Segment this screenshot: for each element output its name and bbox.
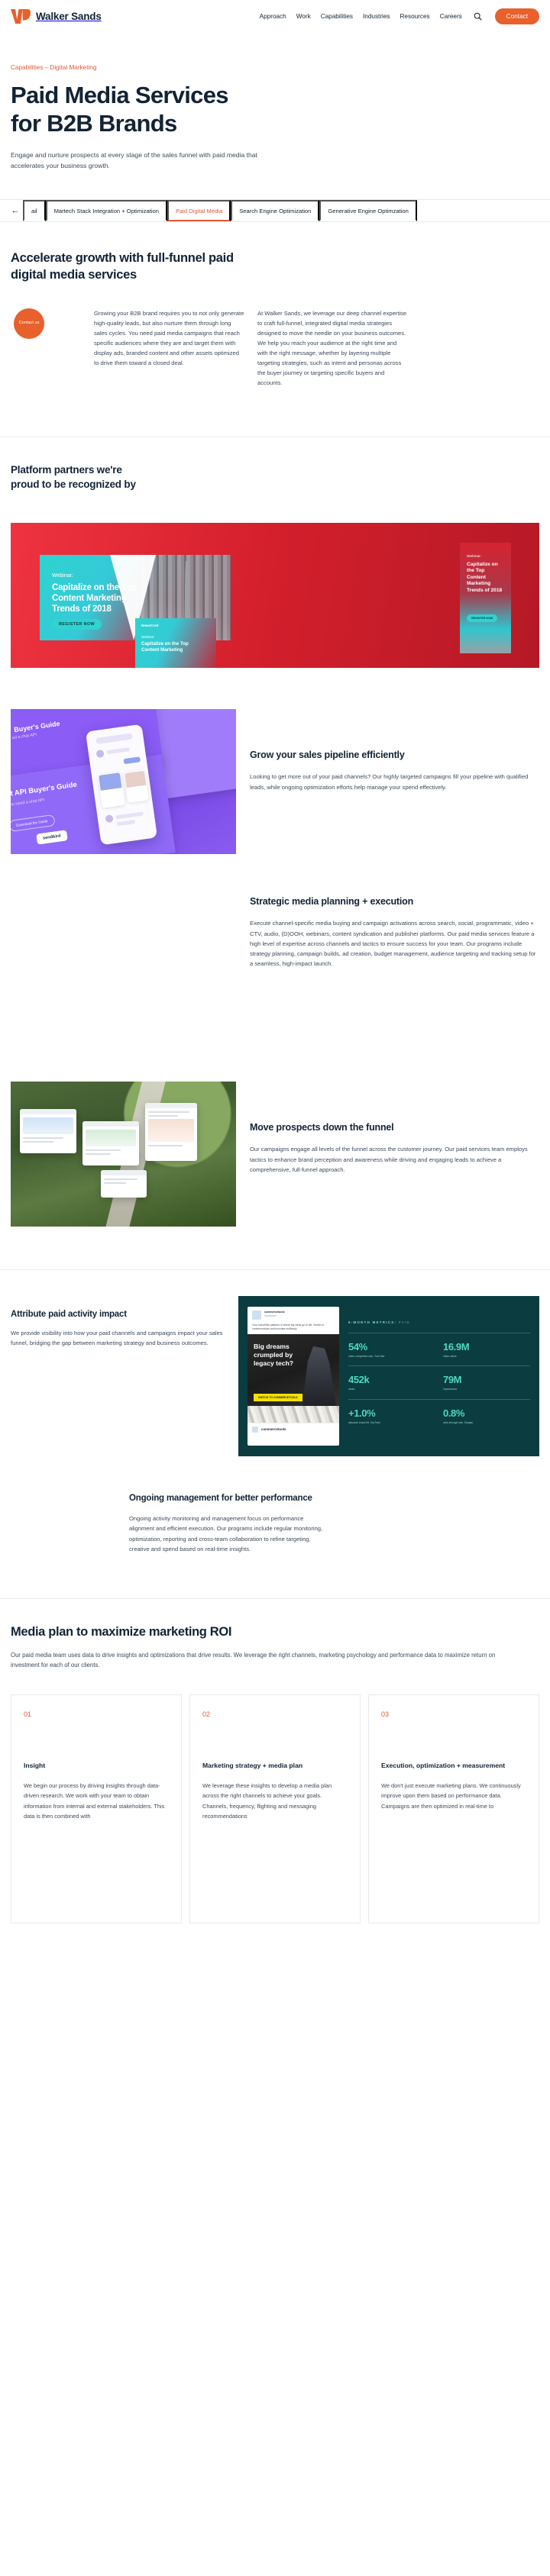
hero-section: Capabilities – Digital Marketing Paid Me… xyxy=(0,32,550,172)
metric-label: clicks xyxy=(348,1388,435,1391)
metric-label: click-through rate, Display xyxy=(443,1421,530,1425)
metric-item: 54% video completion rate, YouTube xyxy=(348,1341,435,1359)
plan-card-number: 03 xyxy=(381,1710,526,1718)
pipeline-body: Looking to get more out of your paid cha… xyxy=(250,772,539,791)
media-plan-cards: 01 Insight We begin our process by drivi… xyxy=(11,1694,539,1923)
main-nav: Approach Work Capabilities Industries Re… xyxy=(260,8,539,24)
funnel-heading: Move prospects down the funnel xyxy=(250,1121,539,1134)
ad-cta-button[interactable]: SWITCH TO COMMERCETOOLS xyxy=(254,1394,302,1401)
strategic-spacer xyxy=(11,895,236,1040)
nav-item-capabilities[interactable]: Capabilities xyxy=(321,13,353,20)
accelerate-columns: Growing your B2B brand requires you to n… xyxy=(94,308,408,388)
nav-item-industries[interactable]: Industries xyxy=(363,13,390,20)
banner-vertical-register-button[interactable]: REGISTER NOW xyxy=(467,614,497,622)
attribute-text: Attribute paid activity impact We provid… xyxy=(11,1296,225,1348)
attribute-body: We provide visibility into how your paid… xyxy=(11,1328,225,1348)
dashboard-tile-1 xyxy=(20,1109,76,1153)
metric-item: 0.8% click-through rate, Display xyxy=(443,1407,530,1425)
ad-sponsored-label: Sponsored xyxy=(264,1314,335,1317)
funnel-body: Our campaigns engage all levels of the f… xyxy=(250,1144,539,1175)
strategic-section: Strategic media planning + execution Exe… xyxy=(0,895,550,1040)
plan-card-title: Insight xyxy=(24,1761,169,1770)
ongoing-management-section: Ongoing management for better performanc… xyxy=(0,1493,550,1554)
plan-card-title: Marketing strategy + media plan xyxy=(202,1761,348,1770)
banner-eyebrow: Webinar: xyxy=(52,573,73,579)
pipeline-heading: Grow your sales pipeline efficiently xyxy=(250,749,539,762)
metric-value: 452k xyxy=(348,1374,435,1385)
metric-row: 452k clicks 79M impressions xyxy=(348,1365,530,1399)
plan-card-number: 02 xyxy=(202,1710,348,1718)
nav-item-work[interactable]: Work xyxy=(296,13,311,20)
nav-item-resources[interactable]: Resources xyxy=(400,13,430,20)
attribute-heading: Attribute paid activity impact xyxy=(11,1310,225,1319)
dashboard-tile-3 xyxy=(145,1103,197,1161)
metric-label: video completion rate, YouTube xyxy=(348,1355,435,1359)
strategic-body: Execute channel-specific media buying an… xyxy=(250,918,539,969)
metric-item: 452k clicks xyxy=(348,1374,435,1391)
ad-paper-rubble xyxy=(247,1406,339,1423)
page-title: Paid Media Services for B2B Brands xyxy=(11,82,332,137)
metric-row: +1.0% absolute brand lift, YouTube 0.8% … xyxy=(348,1399,530,1433)
advertiser-logo-icon xyxy=(252,1427,258,1433)
walker-sands-logo-icon xyxy=(11,9,31,24)
media-plan-lede: Our paid media team uses data to drive i… xyxy=(11,1650,515,1671)
partners-heading: Platform partners we're proud to be reco… xyxy=(11,463,141,492)
ebook-promo-image: Buyer's Guide ed a chat API at API Buyer… xyxy=(11,709,236,854)
banner-vertical-title: Capitalize on the Top Content Marketing … xyxy=(467,562,505,595)
tab-search-engine-optimization[interactable]: Search Engine Optimization xyxy=(231,200,319,221)
attribute-section: Attribute paid activity impact We provid… xyxy=(0,1269,550,1456)
advertiser-name: commercetools xyxy=(264,1311,335,1314)
ongoing-body: Ongoing activity monitoring and manageme… xyxy=(129,1514,328,1554)
banner-thumb-title: Capitalize on the Top Content Marketing xyxy=(141,641,199,653)
ad-header: commercetools Sponsored xyxy=(247,1307,339,1323)
site-header: Walker Sands Approach Work Capabilities … xyxy=(0,0,550,32)
media-plan-section: Media plan to maximize marketing ROI Our… xyxy=(0,1598,550,1924)
strategic-text: Strategic media planning + execution Exe… xyxy=(250,895,539,969)
nav-item-approach[interactable]: Approach xyxy=(260,13,286,20)
advertiser-avatar xyxy=(252,1311,261,1320)
banner-thumb-eyebrow: Webinar: xyxy=(141,635,155,639)
linkedin-ad-preview: commercetools Sponsored Your monolithic … xyxy=(247,1307,339,1446)
metric-label: absolute brand lift, YouTube xyxy=(348,1421,435,1425)
aerial-road-image xyxy=(11,1082,236,1227)
ad-footer-brand: commercetools xyxy=(261,1427,286,1431)
ongoing-heading: Ongoing management for better performanc… xyxy=(129,1493,328,1504)
plan-card: 01 Insight We begin our process by drivi… xyxy=(11,1694,182,1923)
banner-title: Capitalize on the Top Content Marketing … xyxy=(52,582,151,614)
accelerate-body: Contact us Growing your B2B brand requir… xyxy=(11,308,539,388)
accelerate-section: Accelerate growth with full-funnel paid … xyxy=(0,222,550,388)
strategic-heading: Strategic media planning + execution xyxy=(250,895,539,908)
nav-item-careers[interactable]: Careers xyxy=(440,13,462,20)
metric-item: 79M impressions xyxy=(443,1374,530,1391)
media-plan-heading: Media plan to maximize marketing ROI xyxy=(11,1625,539,1639)
metric-item: 16.9M video views xyxy=(443,1341,530,1359)
page-title-line1: Paid Media Services xyxy=(11,82,228,108)
hero-description: Engage and nurture prospects at every st… xyxy=(11,150,263,172)
brand-name: Walker Sands xyxy=(36,11,102,22)
metrics-title: 6-MONTH METRICS: PAID xyxy=(348,1320,530,1324)
metric-value: 79M xyxy=(443,1374,530,1385)
tab-back-arrow-icon[interactable]: ← xyxy=(8,200,23,221)
metric-value: 16.9M xyxy=(443,1341,530,1352)
banner-register-button[interactable]: REGISTER NOW xyxy=(52,619,102,630)
ad-body-copy: Your monolithic platform is where big id… xyxy=(247,1323,339,1334)
banner-vertical-eyebrow: Webinar: xyxy=(467,555,481,559)
metric-value: 0.8% xyxy=(443,1407,530,1419)
dashboard-tile-4 xyxy=(101,1170,147,1198)
banner-vertical-ad: Webinar: Capitalize on the Top Content M… xyxy=(460,543,511,653)
ad-headline: Big dreams crumpled by legacy tech? xyxy=(254,1343,307,1368)
tab-martech-stack[interactable]: Martech Stack Integration + Optimization xyxy=(46,200,167,221)
accelerate-heading: Accelerate growth with full-funnel paid … xyxy=(11,250,270,284)
metric-row: 54% video completion rate, YouTube 16.9M… xyxy=(348,1333,530,1366)
newscred-logo: NewsCred xyxy=(141,624,158,627)
accelerate-column-2: At Walker Sands, we leverage our deep ch… xyxy=(257,308,408,388)
banner-thumbnail-ad: NewsCred Webinar: Capitalize on the Top … xyxy=(135,618,216,668)
accelerate-column-1: Growing your B2B brand requires you to n… xyxy=(94,308,244,388)
plan-card-title: Execution, optimization + measurement xyxy=(381,1761,526,1770)
pipeline-text: Grow your sales pipeline efficiently Loo… xyxy=(250,709,539,792)
ongoing-text: Ongoing management for better performanc… xyxy=(129,1493,328,1554)
pipeline-section: Buyer's Guide ed a chat API at API Buyer… xyxy=(0,709,550,854)
contact-button[interactable]: Contact xyxy=(495,8,539,24)
metrics-panel: 6-MONTH METRICS: PAID 54% video completi… xyxy=(348,1307,530,1446)
capability-tabs: ← ail Martech Stack Integration + Optimi… xyxy=(0,199,550,222)
metric-label: video views xyxy=(443,1355,530,1359)
tab-paid-digital-media[interactable]: Paid Digital Media xyxy=(167,200,231,221)
page-title-line2: for B2B Brands xyxy=(11,110,177,137)
funnel-section: Move prospects down the funnel Our campa… xyxy=(0,1082,550,1227)
plan-card: 03 Execution, optimization + measurement… xyxy=(368,1694,539,1923)
ad-creative-image: Big dreams crumpled by legacy tech? SWIT… xyxy=(247,1334,339,1423)
breadcrumb: Capabilities – Digital Marketing xyxy=(11,64,539,71)
metric-item: +1.0% absolute brand lift, YouTube xyxy=(348,1407,435,1425)
metrics-title-sub: PAID xyxy=(396,1320,410,1324)
brand-logo-link[interactable]: Walker Sands xyxy=(11,9,102,24)
metric-value: 54% xyxy=(348,1341,435,1352)
platform-partners-section: Platform partners we're proud to be reco… xyxy=(0,437,550,492)
tab-email[interactable]: ail xyxy=(23,200,46,221)
metric-label: impressions xyxy=(443,1388,530,1391)
plan-card: 02 Marketing strategy + media plan We le… xyxy=(189,1694,361,1923)
search-icon[interactable] xyxy=(473,11,483,21)
plan-card-body: We don't just execute marketing plans. W… xyxy=(381,1781,526,1810)
metric-value: +1.0% xyxy=(348,1407,435,1419)
case-study-dashboard: commercetools Sponsored Your monolithic … xyxy=(238,1296,539,1456)
contact-us-badge[interactable]: Contact us xyxy=(14,308,44,339)
webinar-banner-image: Webinar: Capitalize on the Top Content M… xyxy=(11,523,539,668)
dashboard-tile-2 xyxy=(82,1121,139,1165)
plan-card-body: We begin our process by driving insights… xyxy=(24,1781,169,1820)
tab-generative-engine-optimization[interactable]: Generative Engine Optimzation xyxy=(319,200,417,221)
plan-card-number: 01 xyxy=(24,1710,169,1718)
metrics-title-main: 6-MONTH METRICS: xyxy=(348,1320,396,1324)
ad-footer: commercetools xyxy=(247,1423,339,1436)
plan-card-body: We leverage these insights to develop a … xyxy=(202,1781,348,1820)
funnel-text: Move prospects down the funnel Our campa… xyxy=(250,1082,539,1175)
